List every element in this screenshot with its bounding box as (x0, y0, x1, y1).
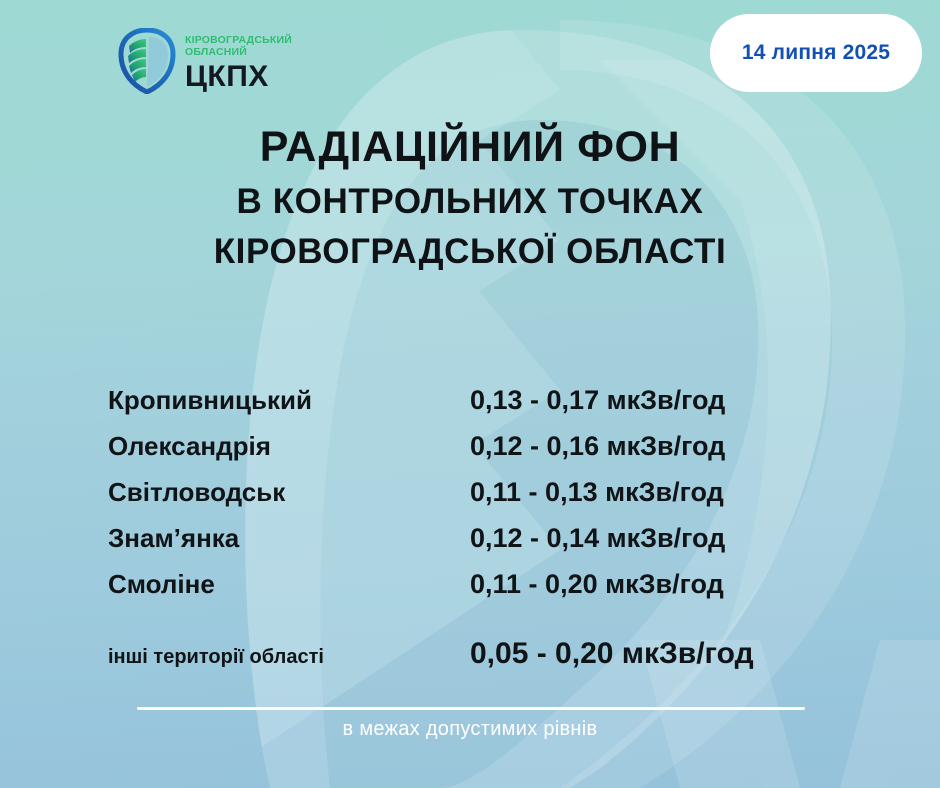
table-row: Знам’янка 0,12 - 0,14 мкЗв/год (108, 523, 832, 569)
dose-rate-value: 0,11 - 0,20 мкЗв/год (470, 569, 724, 600)
location-label: Знам’янка (108, 523, 470, 554)
dose-rate-value: 0,13 - 0,17 мкЗв/год (470, 385, 725, 416)
table-row: Кропивницький 0,13 - 0,17 мкЗв/год (108, 385, 832, 431)
date-badge-text: 14 липня 2025 (742, 41, 890, 65)
table-row: Смоліне 0,11 - 0,20 мкЗв/год (108, 569, 832, 615)
footer-note: в межах допустимих рівнів (0, 718, 940, 741)
location-label: Смоліне (108, 569, 470, 600)
dose-rate-value: 0,12 - 0,14 мкЗв/год (470, 523, 725, 554)
table-row-other-areas: інші території області 0,05 - 0,20 мкЗв/… (108, 637, 832, 683)
location-label: Олександрія (108, 431, 470, 462)
logo-line-1: КІРОВОГРАДСЬКИЙ (185, 34, 292, 46)
title-line-3: КІРОВОГРАДСЬКОЇ ОБЛАСТІ (0, 233, 940, 270)
title-line-1: РАДІАЦІЙНИЙ ФОН (0, 124, 940, 170)
radiation-readings-table: Кропивницький 0,13 - 0,17 мкЗв/год Олекс… (108, 385, 832, 683)
logo-line-2: ОБЛАСНИЙ (185, 46, 292, 58)
logo-abbreviation: ЦКПХ (185, 62, 292, 92)
title-line-2: В КОНТРОЛЬНИХ ТОЧКАХ (0, 183, 940, 220)
organization-logo: КІРОВОГРАДСЬКИЙ ОБЛАСНИЙ ЦКПХ (118, 28, 292, 94)
dose-rate-value: 0,12 - 0,16 мкЗв/год (470, 431, 725, 462)
other-areas-label: інші території області (108, 646, 470, 669)
logo-text-block: КІРОВОГРАДСЬКИЙ ОБЛАСНИЙ ЦКПХ (185, 28, 292, 92)
page-title: РАДІАЦІЙНИЙ ФОН В КОНТРОЛЬНИХ ТОЧКАХ КІР… (0, 124, 940, 271)
table-row: Світловодськ 0,11 - 0,13 мкЗв/год (108, 477, 832, 523)
poster-canvas: КІРОВОГРАДСЬКИЙ ОБЛАСНИЙ ЦКПХ 14 липня 2… (0, 0, 940, 788)
location-label: Світловодськ (108, 477, 470, 508)
shield-leaf-logo-icon (118, 28, 176, 94)
dose-rate-value: 0,11 - 0,13 мкЗв/год (470, 477, 724, 508)
date-badge: 14 липня 2025 (710, 14, 922, 92)
other-areas-value: 0,05 - 0,20 мкЗв/год (470, 637, 754, 671)
footer-divider (137, 707, 805, 710)
table-row: Олександрія 0,12 - 0,16 мкЗв/год (108, 431, 832, 477)
location-label: Кропивницький (108, 385, 470, 416)
